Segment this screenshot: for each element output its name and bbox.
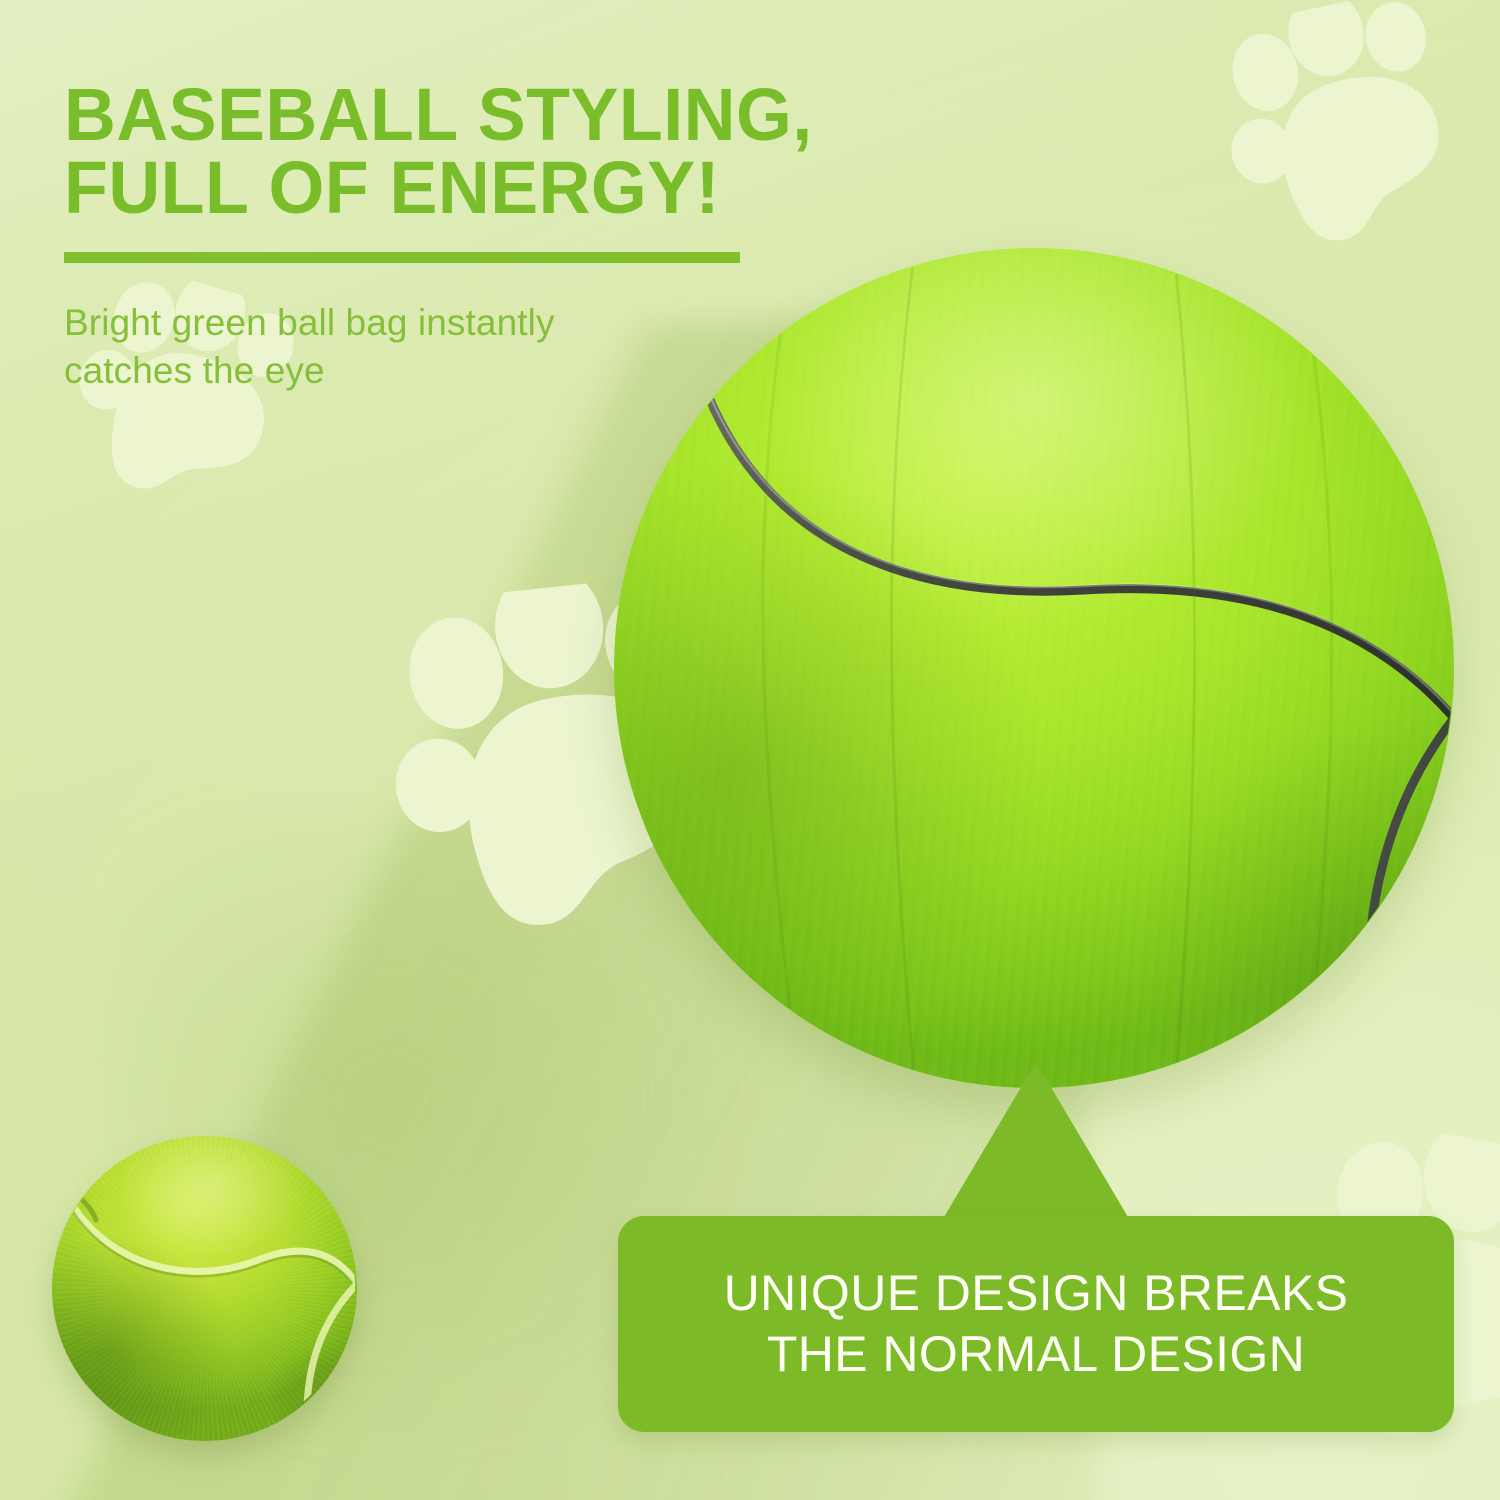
callout-banner: UNIQUE DESIGN BREAKS THE NORMAL DESIGN [618,1216,1454,1432]
callout-line-2: THE NORMAL DESIGN [767,1324,1305,1385]
oversized-tennis-ball-bag [614,248,1454,1088]
callout-text-block: UNIQUE DESIGN BREAKS THE NORMAL DESIGN [618,1216,1454,1432]
ball-seam-lines [614,248,1454,1088]
callout-pointer [941,1062,1131,1222]
standard-tennis-ball [52,1136,357,1441]
infographic-canvas: BASEBALL STYLING, FULL OF ENERGY! Bright… [0,0,1500,1500]
headline-line-1: BASEBALL STYLING, [64,78,859,151]
callout-line-1: UNIQUE DESIGN BREAKS [724,1263,1349,1324]
headline-line-2: FULL OF ENERGY! [64,151,859,224]
ball-seam-lines-small [52,1136,357,1441]
hero-product-image [614,248,1454,1088]
